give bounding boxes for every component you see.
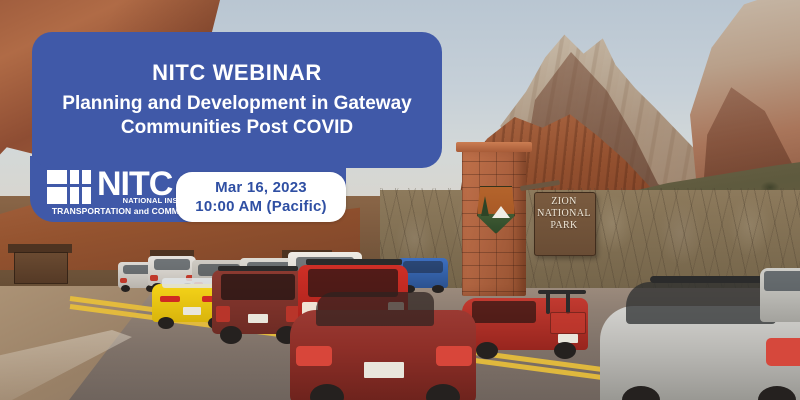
webinar-title: Planning and Development in Gateway Comm… [46, 92, 428, 140]
zion-park-sign-text: ZION NATIONAL PARK [534, 196, 594, 232]
nitc-grid-logo-icon [47, 170, 91, 204]
webinar-promo-banner: ZION NATIONAL PARK [0, 0, 800, 400]
schedule-date: Mar 16, 2023 [215, 178, 307, 197]
zion-sign-line3: PARK [534, 220, 594, 232]
zion-sign-line2: NATIONAL [534, 208, 594, 220]
webinar-title-line-1: Planning and Development in Gateway [46, 92, 428, 116]
nitc-logo [47, 170, 91, 204]
webinar-kicker: NITC WEBINAR [32, 60, 442, 86]
webinar-title-line-2: Communities Post COVID [46, 116, 428, 140]
schedule-badge: Mar 16, 2023 10:00 AM (Pacific) [176, 172, 346, 222]
zion-sign-line1: ZION [534, 196, 594, 208]
schedule-time: 10:00 AM (Pacific) [195, 197, 326, 216]
pillar-cap [456, 142, 532, 152]
entrance-booth [14, 252, 68, 284]
